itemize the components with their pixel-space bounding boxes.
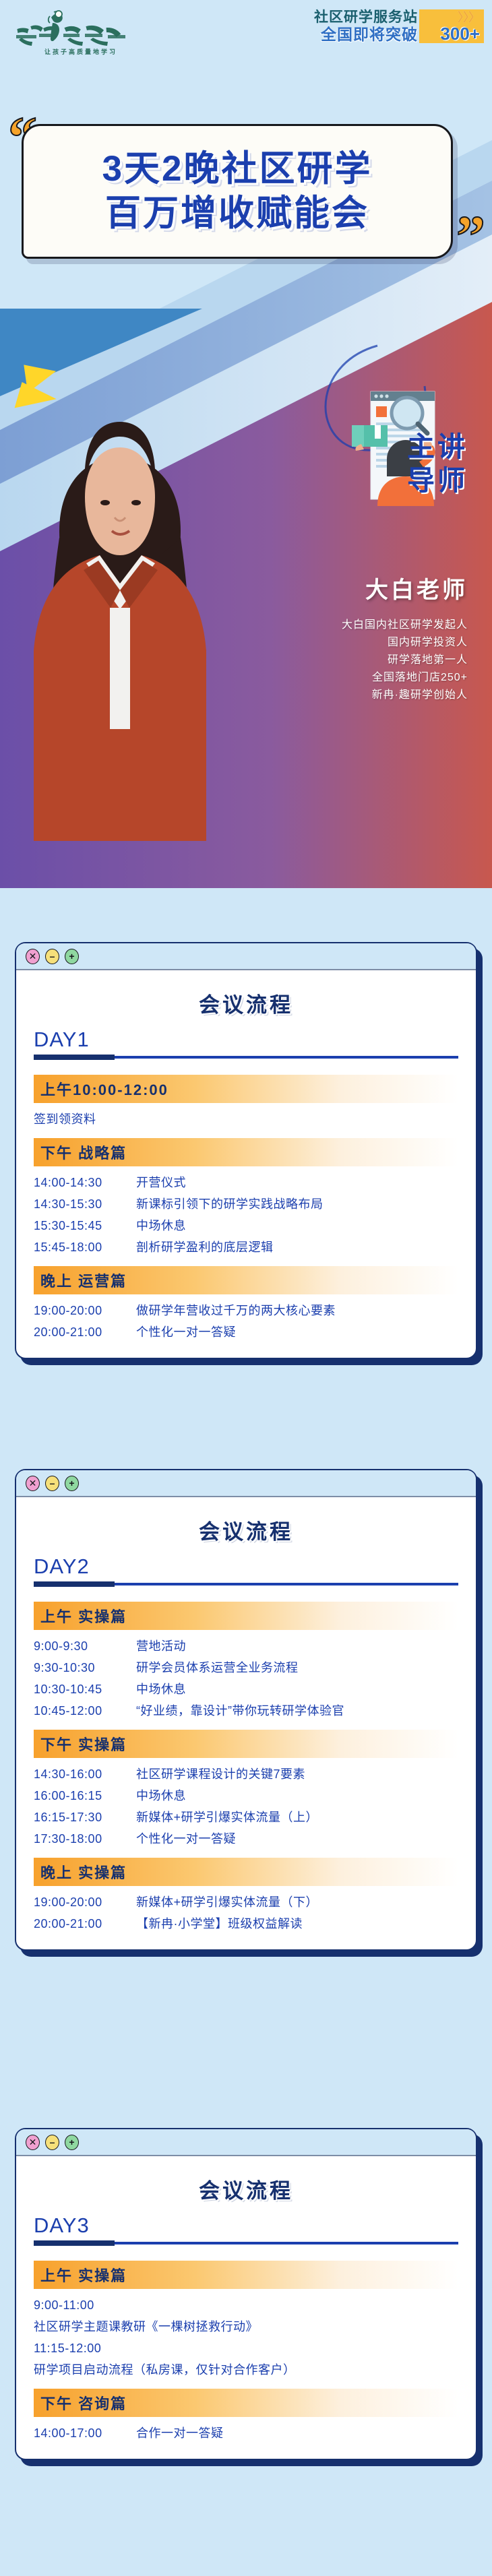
section-header: 晚上 实操篇 (34, 1858, 458, 1886)
schedule-desc: 中场休息 (136, 1678, 458, 1700)
credential-item: 大白国内社区研学发起人 (245, 617, 468, 634)
schedule-row: 14:00-14:30开营仪式 (34, 1172, 458, 1193)
maximize-icon[interactable]: + (65, 949, 79, 964)
maximize-icon[interactable]: + (65, 1476, 79, 1491)
schedule-time: 14:30-16:00 (34, 1763, 136, 1785)
logo-icon (12, 8, 147, 46)
hero-title-card: 3天2晚社区研学 百万增收赋能会 (22, 124, 453, 259)
window-title-bar: ✕–+ (16, 943, 476, 970)
schedule-desc: 研学项目启动流程（私房课，仅针对合作客户） (34, 2359, 458, 2381)
card-body: 会议流程DAY3上午 实操篇9:00-11:00社区研学主题课教研《一棵树拯救行… (16, 2156, 476, 2459)
promo-badge: 〉〉〉 300+ (419, 9, 484, 43)
schedule-desc: 剖析研学盈利的底层逻辑 (136, 1236, 458, 1258)
schedule-desc: 【新冉·小学堂】班级权益解读 (136, 1913, 458, 1935)
credential-item: 研学落地第一人 (245, 652, 468, 669)
promo-count: 300+ (423, 25, 480, 42)
schedule-row: 9:30-10:30研学会员体系运营全业务流程 (34, 1657, 458, 1678)
schedule-time: 15:30-15:45 (34, 1215, 136, 1236)
day-divider (34, 2242, 458, 2244)
schedule-time: 16:15-17:30 (34, 1807, 136, 1828)
schedule-card-day2: ✕–+会议流程DAY2上午 实操篇9:00-9:30营地活动9:30-10:30… (15, 1469, 477, 1951)
hero-section: “ 3天2晚社区研学 百万增收赋能会 ” 主讲 导师 大白老师 (0, 80, 492, 888)
schedule-time: 20:00-21:00 (34, 1913, 136, 1935)
brand-logo: 让孩子高质量地学习 (12, 8, 147, 56)
credential-item: 新冉·趣研学创始人 (245, 687, 468, 704)
mentor-credentials: 大白国内社区研学发起人 国内研学投资人 研学落地第一人 全国落地门店250+ 新… (245, 617, 468, 704)
schedule-card-day1: ✕–+会议流程DAY1上午10:00-12:00签到领资料下午 战略篇14:00… (15, 942, 477, 1359)
day-label: DAY3 (34, 2213, 458, 2238)
maximize-icon[interactable]: + (65, 2135, 79, 2150)
section-header: 上午 实操篇 (34, 1602, 458, 1630)
mentor-label-line-2: 导师 (245, 464, 468, 497)
schedule-desc: 新课标引领下的研学实践战略布局 (136, 1193, 458, 1215)
schedule-row: 9:00-11:00社区研学主题课教研《一棵树拯救行动》 (34, 2294, 458, 2337)
schedule-row: 签到领资料 (34, 1108, 458, 1130)
window-title-bar: ✕–+ (16, 2129, 476, 2156)
day-divider (34, 1583, 458, 1585)
minimize-icon[interactable]: – (45, 1476, 59, 1491)
promo-line-2: 全国即将突破 (314, 26, 419, 43)
schedule-row: 17:30-18:00个性化一对一答疑 (34, 1828, 458, 1850)
schedule-time: 19:00-20:00 (34, 1300, 136, 1321)
card-title: 会议流程 (34, 988, 458, 1018)
schedule-row: 11:15-12:00研学项目启动流程（私房课，仅针对合作客户） (34, 2337, 458, 2381)
schedule-row: 19:00-20:00新媒体+研学引爆实体流量（下） (34, 1891, 458, 1913)
section-header: 上午10:00-12:00 (34, 1075, 458, 1103)
schedule-time: 14:30-15:30 (34, 1193, 136, 1215)
schedule-desc: 个性化一对一答疑 (136, 1828, 458, 1850)
logo-subtitle: 让孩子高质量地学习 (20, 47, 142, 56)
minimize-icon[interactable]: – (45, 949, 59, 964)
schedule-desc: 社区研学课程设计的关键7要素 (136, 1763, 458, 1785)
schedule-row: 14:30-15:30新课标引领下的研学实践战略布局 (34, 1193, 458, 1215)
schedule-desc: 合作一对一答疑 (136, 2422, 458, 2444)
hero-title-line-2: 百万增收赋能会 (105, 191, 369, 236)
section-header: 晚上 运营篇 (34, 1266, 458, 1294)
schedule-row: 16:15-17:30新媒体+研学引爆实体流量（上） (34, 1807, 458, 1828)
chevron-right-icon: 〉〉〉 (423, 10, 480, 25)
schedule-time: 19:00-20:00 (34, 1891, 136, 1913)
schedule-time: 9:00-9:30 (34, 1635, 136, 1657)
schedule-desc: 签到领资料 (34, 1108, 458, 1130)
card-title: 会议流程 (34, 2174, 458, 2204)
schedule-desc: “好业绩，靠设计”带你玩转研学体验官 (136, 1700, 458, 1722)
close-icon[interactable]: ✕ (26, 2135, 40, 2150)
schedule-row: 20:00-21:00【新冉·小学堂】班级权益解读 (34, 1913, 458, 1935)
close-icon[interactable]: ✕ (26, 1476, 40, 1491)
schedule-time: 11:15-12:00 (34, 2337, 458, 2359)
mentor-label-line-1: 主讲 (245, 430, 468, 464)
schedule-row: 15:30-15:45中场休息 (34, 1215, 458, 1236)
schedule-row: 20:00-21:00个性化一对一答疑 (34, 1321, 458, 1343)
schedule-time: 17:30-18:00 (34, 1828, 136, 1850)
schedule-row: 9:00-9:30营地活动 (34, 1635, 458, 1657)
schedule-row: 14:30-16:00社区研学课程设计的关键7要素 (34, 1763, 458, 1785)
mentor-name: 大白老师 (245, 571, 468, 604)
schedule-desc: 中场休息 (136, 1785, 458, 1807)
close-icon[interactable]: ✕ (26, 949, 40, 964)
schedule-time: 20:00-21:00 (34, 1321, 136, 1343)
top-bar: 让孩子高质量地学习 社区研学服务站 全国即将突破 〉〉〉 300+ (0, 0, 492, 80)
section-header: 上午 实操篇 (34, 2261, 458, 2289)
window-title-bar: ✕–+ (16, 1470, 476, 1497)
schedule-time: 14:00-14:30 (34, 1172, 136, 1193)
schedule-desc: 个性化一对一答疑 (136, 1321, 458, 1343)
promo-line-1: 社区研学服务站 (314, 9, 419, 26)
schedule-time: 10:45-12:00 (34, 1700, 136, 1722)
promo-banner: 社区研学服务站 全国即将突破 〉〉〉 300+ (314, 9, 484, 43)
day-divider (34, 1056, 458, 1059)
schedule-desc: 中场休息 (136, 1215, 458, 1236)
day-label: DAY2 (34, 1554, 458, 1579)
day-label: DAY1 (34, 1028, 458, 1052)
schedule-time: 9:30-10:30 (34, 1657, 136, 1678)
card-title: 会议流程 (34, 1515, 458, 1545)
schedule-row: 10:30-10:45中场休息 (34, 1678, 458, 1700)
speaker-portrait (19, 329, 221, 841)
section-header: 下午 实操篇 (34, 1730, 458, 1758)
schedule-row: 19:00-20:00做研学年营收过千万的两大核心要素 (34, 1300, 458, 1321)
schedule-time: 16:00-16:15 (34, 1785, 136, 1807)
schedule-desc: 社区研学主题课教研《一棵树拯救行动》 (34, 2316, 458, 2337)
minimize-icon[interactable]: – (45, 2135, 59, 2150)
schedule-time: 9:00-11:00 (34, 2294, 458, 2316)
schedule-desc: 开营仪式 (136, 1172, 458, 1193)
section-header: 下午 战略篇 (34, 1138, 458, 1166)
schedule-desc: 新媒体+研学引爆实体流量（下） (136, 1891, 458, 1913)
schedule-row: 16:00-16:15中场休息 (34, 1785, 458, 1807)
schedule-desc: 做研学年营收过千万的两大核心要素 (136, 1300, 458, 1321)
schedule-time: 10:30-10:45 (34, 1678, 136, 1700)
schedule-row: 14:00-17:00合作一对一答疑 (34, 2422, 458, 2444)
card-body: 会议流程DAY1上午10:00-12:00签到领资料下午 战略篇14:00-14… (16, 970, 476, 1358)
schedule-card-day3: ✕–+会议流程DAY3上午 实操篇9:00-11:00社区研学主题课教研《一棵树… (15, 2128, 477, 2460)
credential-item: 国内研学投资人 (245, 634, 468, 652)
hero-title-line-1: 3天2晚社区研学 (102, 147, 373, 191)
schedule-row: 10:45-12:00“好业绩，靠设计”带你玩转研学体验官 (34, 1700, 458, 1722)
section-header: 下午 咨询篇 (34, 2389, 458, 2417)
schedule-row: 15:45-18:00剖析研学盈利的底层逻辑 (34, 1236, 458, 1258)
mentor-block: 主讲 导师 大白老师 大白国内社区研学发起人 国内研学投资人 研学落地第一人 全… (245, 430, 468, 704)
quote-close-icon: ” (456, 218, 485, 254)
schedule-desc: 营地活动 (136, 1635, 458, 1657)
schedule-time: 15:45-18:00 (34, 1236, 136, 1258)
card-body: 会议流程DAY2上午 实操篇9:00-9:30营地活动9:30-10:30研学会… (16, 1497, 476, 1949)
schedule-desc: 研学会员体系运营全业务流程 (136, 1657, 458, 1678)
schedule-time: 14:00-17:00 (34, 2422, 136, 2444)
credential-item: 全国落地门店250+ (245, 669, 468, 687)
schedule-desc: 新媒体+研学引爆实体流量（上） (136, 1807, 458, 1828)
